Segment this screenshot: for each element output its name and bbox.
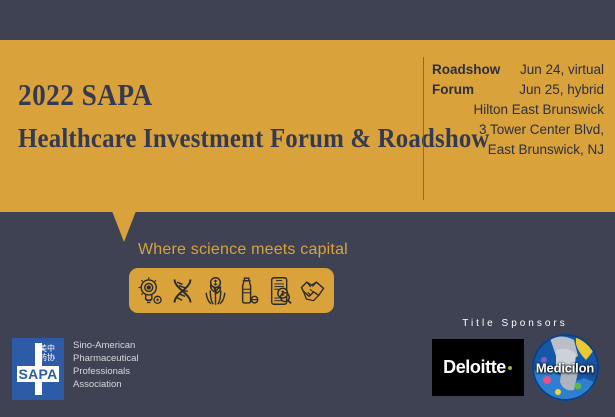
deloitte-wordmark: Deloitte	[443, 357, 506, 378]
venue-line-1: Hilton East Brunswick	[432, 100, 604, 120]
sponsors-section: Title Sponsors Deloitte	[425, 318, 605, 401]
sponsors-heading: Title Sponsors	[425, 318, 605, 329]
sapa-word-line-3: Professionals	[73, 365, 138, 378]
event-title-block: 2022 SAPA Healthcare Investment Forum & …	[18, 78, 418, 154]
sapa-word-line-2: Pharmaceutical	[73, 352, 138, 365]
sponsor-logo-row: Deloitte Medicilo	[425, 334, 605, 401]
sapa-mark-chinese: 美中 药协	[37, 344, 57, 362]
sapa-logo-mark: 美中 药协 SAPA	[12, 338, 64, 400]
sapa-mark-wordmark: SAPA	[14, 366, 62, 382]
venue-line-2: 3 Tower Center Blvd,	[432, 120, 604, 140]
event-details: Roadshow Jun 24, virtual Forum Jun 25, h…	[432, 60, 604, 160]
handshake-icon	[299, 276, 326, 306]
banner-divider	[423, 57, 424, 200]
medicilon-logo: Medicilon	[532, 334, 599, 401]
mobile-finance-search-icon	[267, 276, 294, 306]
sapa-word-line-1: Sino-American	[73, 339, 138, 352]
sapa-logo: 美中 药协 SAPA Sino-American Pharmaceutical …	[12, 338, 138, 400]
sapa-word-line-4: Association	[73, 378, 138, 391]
sapa-chinese-top: 美中	[37, 344, 57, 353]
lightbulb-gear-icon	[137, 276, 164, 306]
deloitte-logo: Deloitte	[432, 339, 524, 396]
plant-hands-money-icon	[202, 276, 229, 306]
banner-speech-tail	[112, 211, 136, 242]
dna-helix-icon	[169, 276, 196, 306]
event-title-year: 2022 SAPA	[18, 78, 370, 112]
tagline: Where science meets capital	[138, 241, 348, 259]
venue-line-3: East Brunswick, NJ	[432, 140, 604, 160]
detail-value-roadshow: Jun 24, virtual	[520, 60, 604, 80]
event-title-subject: Healthcare Investment Forum & Roadshow	[18, 122, 386, 154]
deloitte-green-dot	[508, 366, 512, 370]
medicilon-wordmark: Medicilon	[532, 360, 599, 375]
detail-row-forum: Forum Jun 25, hybrid	[432, 80, 604, 100]
sapa-chinese-bottom: 药协	[37, 353, 57, 362]
detail-label-forum: Forum	[432, 80, 474, 100]
pill-bottle-icon	[234, 276, 261, 306]
poster-canvas: 2022 SAPA Healthcare Investment Forum & …	[0, 0, 615, 417]
detail-row-roadshow: Roadshow Jun 24, virtual	[432, 60, 604, 80]
detail-label-roadshow: Roadshow	[432, 60, 500, 80]
theme-icon-strip	[129, 268, 334, 313]
detail-value-forum: Jun 25, hybrid	[519, 80, 604, 100]
sapa-logo-wordlines: Sino-American Pharmaceutical Professiona…	[73, 339, 138, 391]
